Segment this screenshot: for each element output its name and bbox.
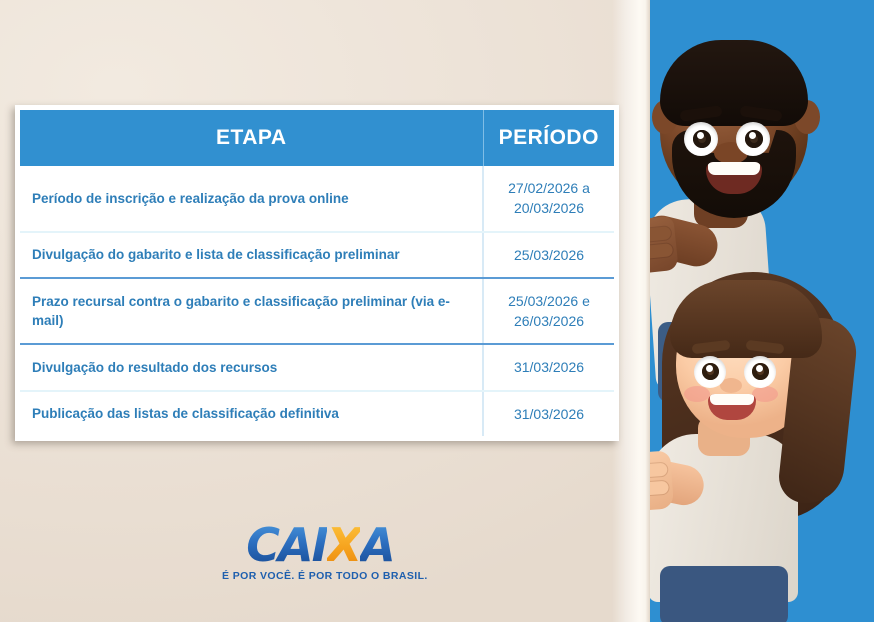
man-eye-left: [684, 122, 718, 156]
table-row: Divulgação do resultado dos recursos 31/…: [20, 344, 614, 390]
row-periodo: 25/03/2026: [483, 232, 614, 278]
table-row: Prazo recursal contra o gabarito e class…: [20, 278, 614, 345]
table-row: Período de inscrição e realização da pro…: [20, 166, 614, 232]
wall-edge-line: [645, 0, 650, 622]
table-header-row: ETAPA PERÍODO: [20, 110, 614, 166]
caixa-logo: CAIXA É POR VOCÊ. É POR TODO O BRASIL.: [222, 521, 418, 585]
poster-canvas: ETAPA PERÍODO Período de inscrição e rea…: [0, 0, 874, 622]
girl-character-illustration: [636, 266, 856, 622]
schedule-table: ETAPA PERÍODO Período de inscrição e rea…: [20, 110, 614, 436]
row-periodo: 31/03/2026: [483, 391, 614, 436]
schedule-table-body: Período de inscrição e realização da pro…: [20, 166, 614, 436]
caixa-logo-wordmark: CAIXA: [222, 521, 418, 569]
column-header-periodo: PERÍODO: [483, 110, 614, 166]
row-etapa: Publicação das listas de classificação d…: [20, 391, 483, 436]
girl-cheek-left: [684, 386, 710, 402]
column-header-etapa: ETAPA: [20, 110, 483, 166]
schedule-table-head: ETAPA PERÍODO: [20, 110, 614, 166]
row-etapa: Divulgação do resultado dos recursos: [20, 344, 483, 390]
row-periodo: 31/03/2026: [483, 344, 614, 390]
caixa-logo-x: X: [327, 518, 360, 572]
row-etapa: Prazo recursal contra o gabarito e class…: [20, 278, 483, 345]
schedule-table-card: ETAPA PERÍODO Período de inscrição e rea…: [15, 105, 619, 441]
row-etapa: Período de inscrição e realização da pro…: [20, 166, 483, 232]
girl-eye-left: [694, 356, 726, 388]
caixa-logo-cai: CAI: [246, 518, 326, 572]
row-etapa: Divulgação do gabarito e lista de classi…: [20, 232, 483, 278]
caixa-logo-tagline: É POR VOCÊ. É POR TODO O BRASIL.: [222, 570, 418, 582]
table-row: Divulgação do gabarito e lista de classi…: [20, 232, 614, 278]
table-row: Publicação das listas de classificação d…: [20, 391, 614, 436]
girl-jeans: [660, 566, 788, 622]
caixa-logo-a: A: [360, 518, 394, 572]
man-eye-right: [736, 122, 770, 156]
row-periodo: 27/02/2026 a 20/03/2026: [483, 166, 614, 232]
row-periodo: 25/03/2026 e 26/03/2026: [483, 278, 614, 345]
girl-eye-right: [744, 356, 776, 388]
